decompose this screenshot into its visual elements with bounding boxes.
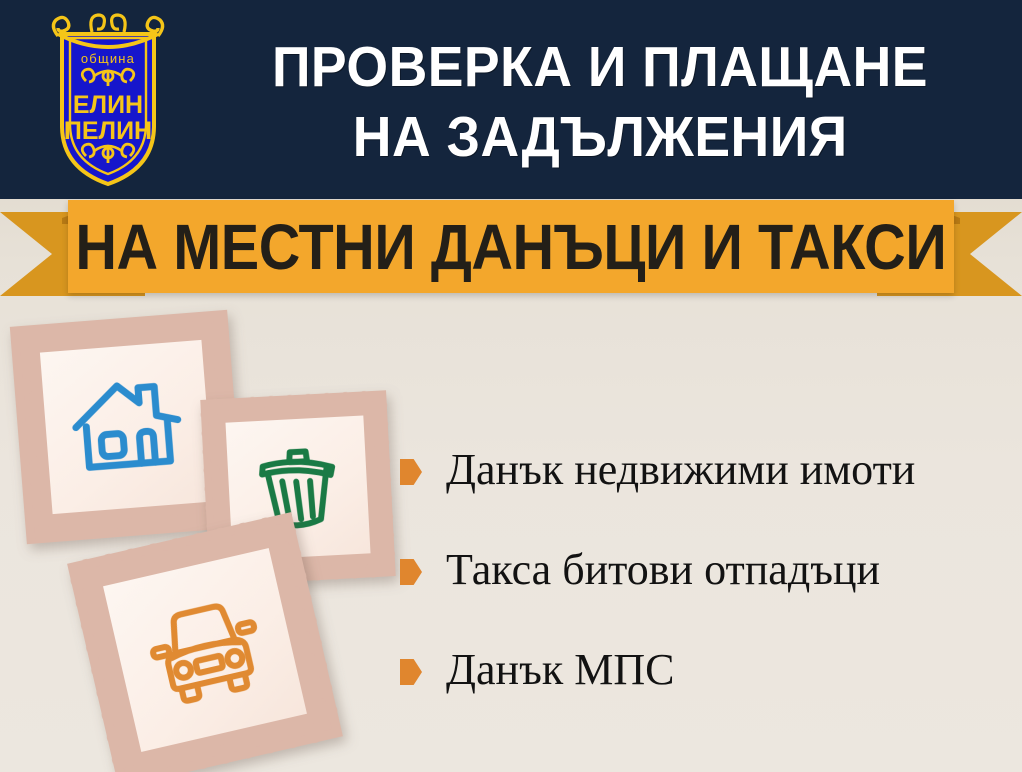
poster-canvas: община ЕЛИН ПЕЛИН [0, 0, 1022, 772]
ribbon-text: НА МЕСТНИ ДАНЪЦИ И ТАКСИ [76, 215, 947, 279]
bullet-arrow-icon [400, 459, 422, 485]
subtitle-ribbon: НА МЕСТНИ ДАНЪЦИ И ТАКСИ [0, 196, 1022, 306]
ribbon-band: НА МЕСТНИ ДАНЪЦИ И ТАКСИ [68, 200, 954, 293]
tax-type-list: Данък недвижими имоти Такса битови отпад… [400, 420, 1010, 720]
coat-of-arms: община ЕЛИН ПЕЛИН [42, 8, 174, 190]
crest-icon: община ЕЛИН ПЕЛИН [42, 8, 174, 190]
list-item[interactable]: Данък МПС [400, 620, 1010, 720]
title-line-1: ПРОВЕРКА И ПЛАЩАНЕ [272, 32, 928, 102]
crest-name-line2: ПЕЛИН [64, 117, 152, 145]
list-item-label: Данък недвижими имоти [446, 446, 915, 494]
car-icon [132, 577, 279, 724]
house-icon [65, 365, 190, 490]
bullet-arrow-icon [400, 559, 422, 585]
header-bar: община ЕЛИН ПЕЛИН [0, 0, 1022, 199]
bullet-arrow-icon [400, 659, 422, 685]
crest-small-label: община [81, 51, 135, 66]
list-item-label: Такса битови отпадъци [446, 546, 880, 594]
crest-name-line1: ЕЛИН [73, 91, 143, 119]
title-line-2: НА ЗАДЪЛЖЕНИЯ [353, 102, 848, 172]
stamp-inner-panel [40, 340, 213, 513]
list-item-label: Данък МПС [446, 646, 674, 694]
page-title: ПРОВЕРКА И ПЛАЩАНЕ НА ЗАДЪЛЖЕНИЯ [185, 14, 1015, 189]
list-item[interactable]: Данък недвижими имоти [400, 420, 1010, 520]
list-item[interactable]: Такса битови отпадъци [400, 520, 1010, 620]
